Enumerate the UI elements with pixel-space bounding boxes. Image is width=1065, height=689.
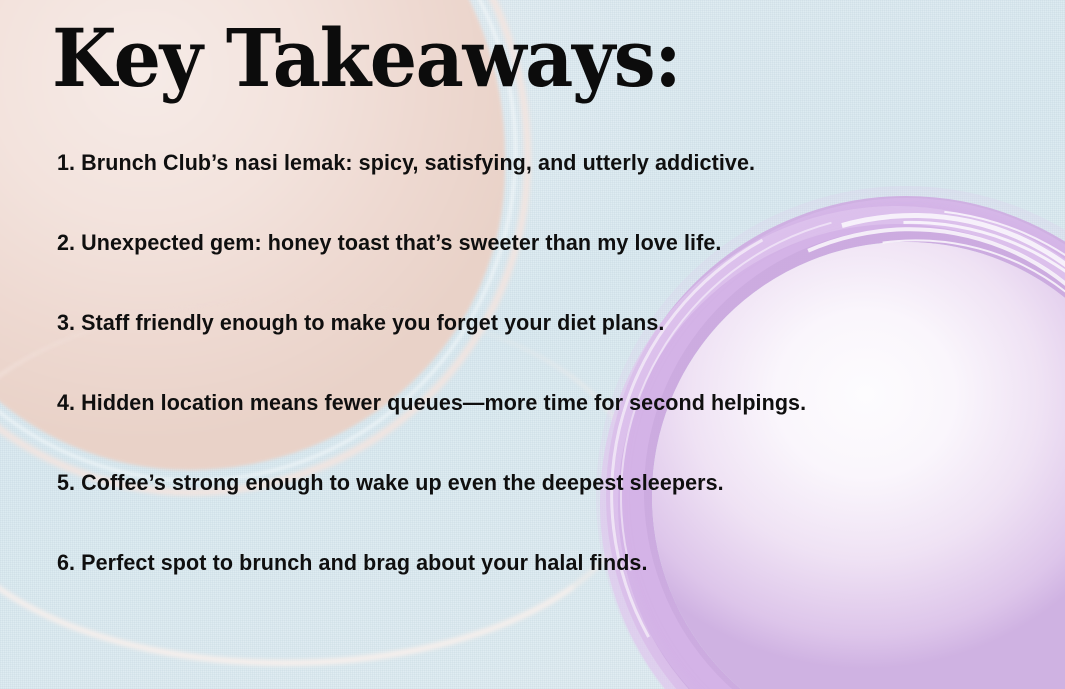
list-item: 5. Coffee’s strong enough to wake up eve… xyxy=(57,472,974,552)
content-layer: Key Takeaways: 1. Brunch Club’s nasi lem… xyxy=(0,0,1065,689)
list-item: 2. Unexpected gem: honey toast that’s sw… xyxy=(57,232,974,312)
list-item: 4. Hidden location means fewer queues—mo… xyxy=(57,392,974,472)
takeaways-list: 1. Brunch Club’s nasi lemak: spicy, sati… xyxy=(57,152,1017,632)
page-title: Key Takeaways: xyxy=(52,18,680,98)
list-item: 6. Perfect spot to brunch and brag about… xyxy=(57,552,974,632)
list-item: 1. Brunch Club’s nasi lemak: spicy, sati… xyxy=(57,152,974,232)
key-takeaways-graphic: Key Takeaways: 1. Brunch Club’s nasi lem… xyxy=(0,0,1065,689)
list-item: 3. Staff friendly enough to make you for… xyxy=(57,312,974,392)
